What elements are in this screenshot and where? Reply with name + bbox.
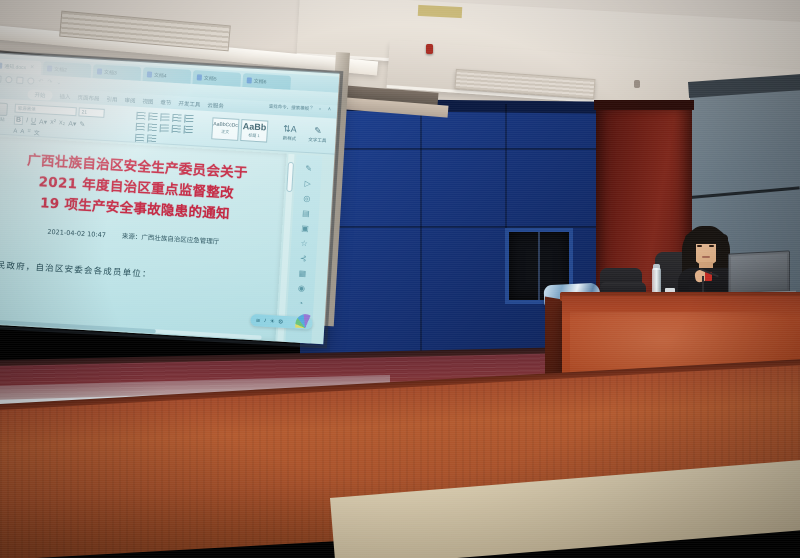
- underline-button[interactable]: U: [31, 118, 36, 125]
- doc-tab-label: 文档6: [254, 77, 267, 85]
- wps-office-window: 通知.docx ✕ 文档2 文档3 文档4 文档5: [0, 52, 339, 344]
- numbered-list-icon[interactable]: [148, 113, 157, 122]
- music-icon[interactable]: ♪: [263, 318, 266, 324]
- ribbon-right-group: ⇅A 新样式 ✎ 文字工具: [277, 117, 335, 152]
- wps-writer-icon: [247, 77, 252, 83]
- increase-indent-icon[interactable]: [172, 114, 181, 123]
- paste-label: 粘贴: [0, 116, 11, 123]
- pen-icon[interactable]: ✎: [305, 165, 312, 173]
- ribbon-help-icons[interactable]: ? ⌄ ∧: [310, 105, 334, 112]
- vertical-scrollbar-thumb[interactable]: [286, 162, 294, 192]
- align-right-icon[interactable]: [160, 124, 169, 133]
- doc-tab-label: 文档5: [204, 74, 217, 82]
- text-tools-label: 文字工具: [305, 137, 329, 144]
- sort-icon[interactable]: [184, 115, 193, 124]
- blue-wall-seam: [330, 148, 600, 150]
- mouth: [702, 256, 710, 258]
- shading-icon[interactable]: [135, 134, 144, 143]
- wps-writer-icon: [97, 68, 102, 74]
- pinyin-icon[interactable]: 文: [33, 128, 40, 137]
- text-color-icon[interactable]: A▾: [39, 118, 48, 126]
- tab-references[interactable]: 引用: [106, 94, 117, 103]
- doc-tab-label: 文档2: [54, 65, 67, 73]
- justify-icon[interactable]: [172, 125, 181, 134]
- conference-room-photo: 通知.docx ✕ 文档2 文档3 文档4 文档5: [0, 0, 800, 558]
- subscript-icon[interactable]: x₂: [59, 119, 66, 126]
- clock-icon[interactable]: ◔: [298, 300, 303, 308]
- style-heading-1[interactable]: AaBb 标题 1: [240, 119, 268, 143]
- table-icon[interactable]: ▦: [298, 270, 306, 278]
- new-style-button[interactable]: ⇅A 新样式: [277, 123, 302, 150]
- document-title: 广西壮族自治区安全生产委员会关于 2021 年度自治区重点监督整改 19 项生产…: [0, 148, 286, 228]
- redo-icon[interactable]: ↷: [47, 78, 52, 85]
- document-page[interactable]: 广西壮族自治区安全生产委员会关于 2021 年度自治区重点监督整改 19 项生产…: [0, 136, 286, 341]
- image-icon[interactable]: ▣: [301, 225, 309, 233]
- tab-developer[interactable]: 开发工具: [178, 99, 200, 108]
- search-icon[interactable]: [27, 77, 34, 84]
- style-normal[interactable]: AaBbCcDc 正文: [211, 117, 239, 141]
- align-center-icon[interactable]: [148, 123, 157, 132]
- tab-review[interactable]: 审阅: [124, 96, 135, 105]
- align-left-icon[interactable]: [136, 123, 145, 132]
- sprinkler-head-icon: [426, 44, 433, 54]
- style-preview: AaBb: [242, 122, 266, 132]
- horizontal-scrollbar[interactable]: [0, 319, 262, 339]
- font-name-input[interactable]: 思源黑体: [14, 104, 76, 117]
- document-body-line: 市人民政府，自治区安委会各成员单位：: [0, 257, 279, 287]
- bold-button[interactable]: B: [14, 116, 24, 126]
- cursor-icon[interactable]: ▷: [304, 180, 311, 188]
- laptop-screen: [731, 254, 787, 293]
- paste-button[interactable]: 粘贴: [0, 100, 12, 133]
- new-style-icon: ⇅A: [278, 123, 303, 135]
- wps-writer-icon: [147, 71, 152, 77]
- chart-icon[interactable]: ▤: [302, 210, 310, 218]
- sprinkler-head-icon: [634, 80, 640, 88]
- tab-insert[interactable]: 插入: [59, 92, 70, 101]
- gear-icon[interactable]: ⚙: [278, 318, 284, 325]
- text-tools-icon: ✎: [306, 125, 331, 137]
- doc-tab-label: 通知.docx: [4, 62, 26, 70]
- style-name: 标题 1: [248, 132, 260, 139]
- font-size-input[interactable]: 21: [78, 107, 104, 118]
- print-icon[interactable]: [5, 76, 12, 83]
- wps-writer-icon: [0, 62, 2, 68]
- tab-section[interactable]: 章节: [160, 98, 171, 107]
- wps-writer-icon: [47, 65, 52, 71]
- italic-button[interactable]: I: [26, 117, 28, 124]
- document-date: 2021-04-02 10:47: [47, 227, 106, 238]
- document-source: 来源：广西壮族自治区应急管理厅: [122, 232, 220, 246]
- star-icon[interactable]: ☆: [300, 240, 308, 248]
- style-name: 正文: [221, 129, 229, 135]
- chevron-down-icon[interactable]: ⌄: [56, 79, 61, 86]
- clear-format-icon[interactable]: ✎: [79, 120, 85, 128]
- borders-icon[interactable]: [147, 134, 156, 143]
- ceiling-tape-patch: [418, 5, 463, 18]
- paste-icon: [0, 102, 7, 116]
- style-preview: AaBbCcDc: [213, 122, 238, 128]
- doc-tab-label: 文档3: [104, 68, 117, 76]
- settings-icon[interactable]: ◉: [298, 285, 305, 293]
- bullet-list-icon[interactable]: [136, 112, 145, 121]
- tab-page-layout[interactable]: 页面布局: [77, 93, 99, 102]
- tab-cloud[interactable]: 云服务: [207, 100, 224, 109]
- text-tools-button[interactable]: ✎ 文字工具: [305, 125, 330, 152]
- print-preview-icon[interactable]: [16, 77, 23, 84]
- char-border-icon[interactable]: ⌗: [27, 128, 31, 135]
- wifi-icon[interactable]: ≋: [255, 317, 260, 324]
- highlight-icon[interactable]: A▾: [68, 119, 77, 127]
- save-icon[interactable]: [0, 75, 2, 82]
- eye-right: [709, 245, 714, 247]
- door-split-line: [538, 232, 540, 300]
- document-meta: 2021-04-02 10:47 来源：广西壮族自治区应急管理厅: [0, 222, 281, 250]
- doc-tab-label: 文档4: [154, 71, 167, 79]
- shrink-font-button[interactable]: A: [20, 128, 24, 134]
- decrease-indent-icon[interactable]: [160, 113, 169, 122]
- undo-icon[interactable]: ↶: [38, 78, 43, 85]
- wps-writer-icon: [197, 74, 202, 80]
- styles-gallery: AaBbCcDc 正文 AaBb 标题 1: [211, 113, 275, 149]
- close-icon[interactable]: ✕: [30, 64, 35, 70]
- new-style-label: 新样式: [277, 135, 301, 142]
- weather-icon[interactable]: ☀: [269, 318, 275, 325]
- shapes-icon[interactable]: ◎: [303, 195, 310, 203]
- grow-font-button[interactable]: A: [13, 128, 17, 134]
- projection-screen: 通知.docx ✕ 文档2 文档3 文档4 文档5: [0, 52, 339, 344]
- share-icon[interactable]: ⊰: [300, 255, 307, 263]
- paragraph-group: [135, 109, 209, 145]
- tab-view[interactable]: 视图: [142, 97, 153, 106]
- wood-column-cap: [594, 100, 694, 110]
- eye-left: [697, 245, 702, 247]
- tab-start[interactable]: 开始: [27, 89, 53, 100]
- font-group: 思源黑体 21 B I U A▾ x² x₂ A▾ ✎ A: [13, 102, 133, 141]
- superscript-icon[interactable]: x²: [50, 119, 56, 126]
- line-spacing-icon[interactable]: [184, 126, 193, 135]
- blue-wall-seam: [505, 104, 507, 228]
